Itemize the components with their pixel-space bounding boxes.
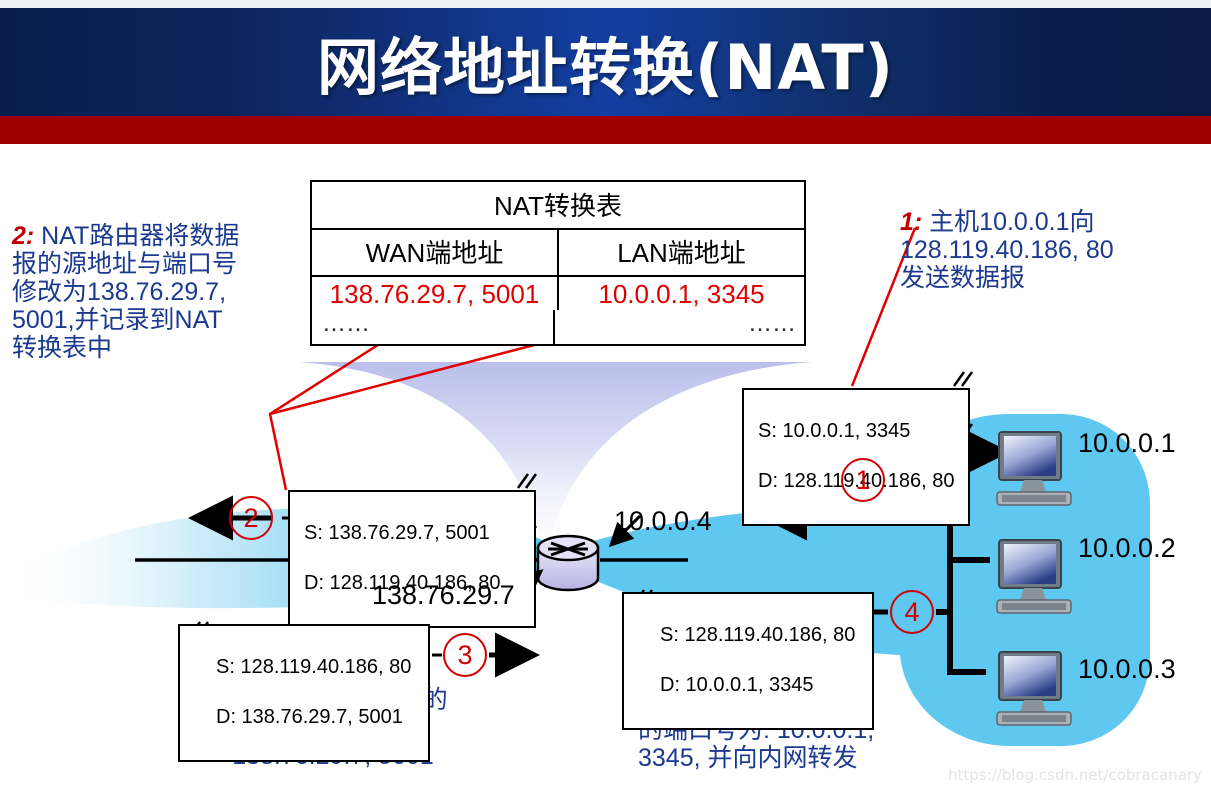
host-computer-2 bbox=[997, 540, 1071, 613]
annotation-step-2-number: 2: bbox=[12, 222, 34, 250]
slide-canvas: 网络地址转换(NAT) bbox=[0, 0, 1211, 796]
router-wan-ip-label: 138.76.29.7 bbox=[372, 580, 515, 611]
annotation-step-1: 1: 主机10.0.0.1向 128.119.40.186, 80 发送数据报 bbox=[900, 208, 1210, 292]
nat-col-header-wan: WAN端地址 bbox=[312, 230, 559, 275]
packet-4-dest: D: 10.0.0.1, 3345 bbox=[660, 673, 862, 698]
host-computer-3 bbox=[997, 652, 1071, 725]
nat-table-header-row: WAN端地址 LAN端地址 bbox=[312, 230, 804, 277]
step-marker-1: 1 bbox=[841, 458, 885, 502]
nat-table-title: NAT转换表 bbox=[312, 182, 804, 230]
annotation-step-2-text: NAT路由器将数据 报的源地址与端口号 修改为138.76.29.7, 5001… bbox=[12, 222, 239, 362]
host-computer-1 bbox=[997, 432, 1071, 505]
annotation-step-1-number: 1: bbox=[900, 208, 922, 236]
step-marker-4: 4 bbox=[890, 590, 934, 634]
step-marker-3: 3 bbox=[443, 633, 487, 677]
host-1-ip-label: 10.0.0.1 bbox=[1078, 428, 1176, 459]
annotation-step-1-text: 主机10.0.0.1向 128.119.40.186, 80 发送数据报 bbox=[900, 208, 1114, 292]
nat-cell-wan: 138.76.29.7, 5001 bbox=[312, 277, 559, 310]
nat-cell-lan: 10.0.0.1, 3345 bbox=[559, 277, 804, 310]
nat-table-row: 138.76.29.7, 5001 10.0.0.1, 3345 bbox=[312, 277, 804, 310]
step-marker-2: 2 bbox=[229, 496, 273, 540]
packet-box-1: S: 10.0.0.1, 3345 D: 128.119.40.186, 80 bbox=[742, 388, 970, 526]
packet-box-3: S: 128.119.40.186, 80 D: 138.76.29.7, 50… bbox=[178, 624, 430, 762]
packet-1-source: S: 10.0.0.1, 3345 bbox=[758, 419, 958, 444]
nat-translation-table: NAT转换表 WAN端地址 LAN端地址 138.76.29.7, 5001 1… bbox=[310, 180, 806, 346]
host-3-ip-label: 10.0.0.3 bbox=[1078, 654, 1176, 685]
host-2-ip-label: 10.0.0.2 bbox=[1078, 533, 1176, 564]
nat-router-icon bbox=[538, 536, 598, 590]
annotation-step-2: 2: NAT路由器将数据 报的源地址与端口号 修改为138.76.29.7, 5… bbox=[12, 222, 312, 362]
packet-3-source: S: 128.119.40.186, 80 bbox=[216, 655, 418, 680]
nat-table-ellipsis-row: …… …… bbox=[312, 310, 804, 344]
packet-3-dest: D: 138.76.29.7, 5001 bbox=[216, 705, 418, 730]
nat-ellipsis-wan: …… bbox=[312, 310, 555, 344]
nat-ellipsis-lan: …… bbox=[555, 310, 804, 344]
packet-box-4: S: 128.119.40.186, 80 D: 10.0.0.1, 3345 bbox=[622, 592, 874, 730]
watermark: https://blog.csdn.net/cobracanary bbox=[948, 766, 1202, 784]
packet-2-source: S: 138.76.29.7, 5001 bbox=[304, 521, 524, 546]
nat-col-header-lan: LAN端地址 bbox=[559, 230, 804, 275]
router-lan-ip-label: 10.0.0.4 bbox=[614, 506, 712, 537]
packet-4-source: S: 128.119.40.186, 80 bbox=[660, 623, 862, 648]
